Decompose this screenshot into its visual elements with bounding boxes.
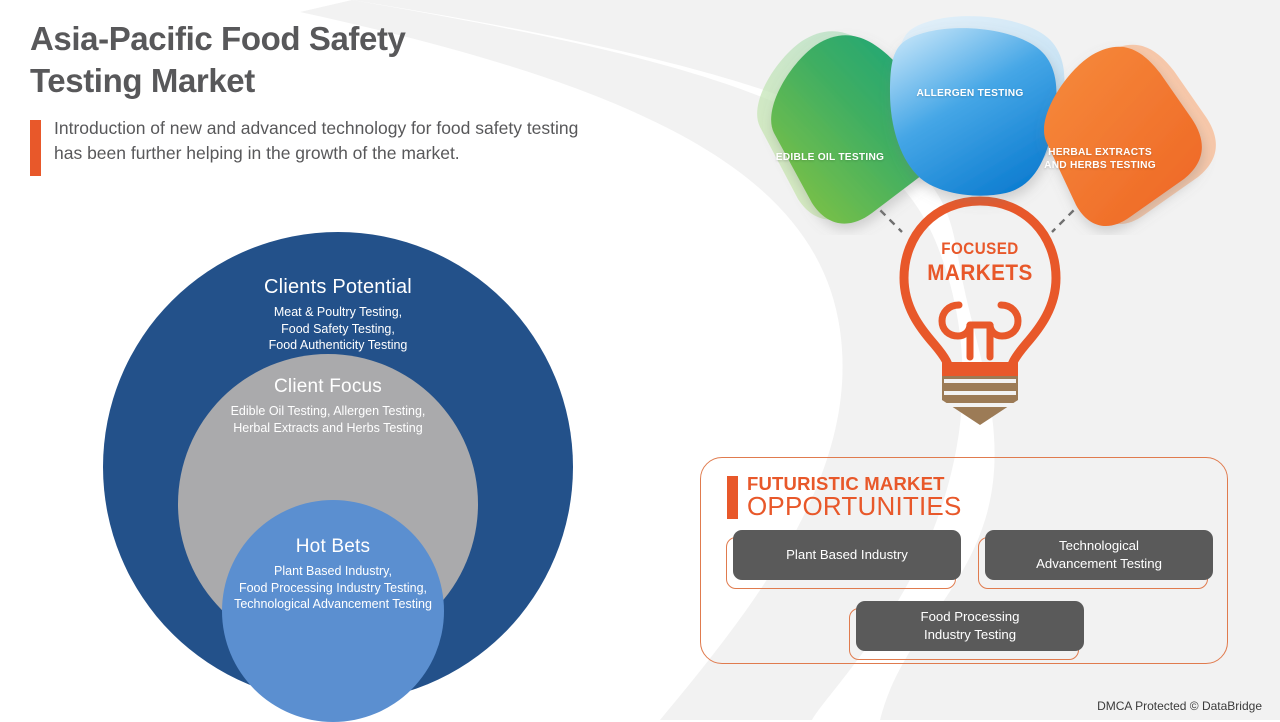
circle-heading: Clients Potential [264,276,412,299]
concentric-circles-diagram: Clients Potential Meat & Poultry Testing… [100,228,580,708]
opportunities-title-line2: OPPORTUNITIES [747,493,962,520]
circle-hot-bets[interactable]: Hot Bets Plant Based Industry, Food Proc… [222,500,444,722]
blob-shapes [730,5,1230,235]
bulb-text-line1: FOCUSED [888,241,1072,258]
circle-items: Plant Based Industry, Food Processing In… [234,563,432,613]
blob-label-edible-oil: EDIBLE OIL TESTING [750,151,910,164]
card-technological-advancement-testing[interactable]: Technological Advancement Testing [985,530,1213,580]
circle-items: Meat & Poultry Testing, Food Safety Test… [269,304,408,354]
bulb-text: FOCUSED MARKETS [880,241,1080,284]
card-label: Plant Based Industry [786,546,908,564]
page-title-line1: Asia-Pacific Food Safety [30,20,406,57]
accent-bar [30,120,41,176]
card-label: Technological Advancement Testing [1036,537,1162,572]
page-title: Asia-Pacific Food Safety Testing Market [30,18,590,102]
infographic-canvas: Asia-Pacific Food Safety Testing Market … [0,0,1280,720]
page-subtitle: Introduction of new and advanced technol… [54,116,590,176]
bulb-text-line2: MARKETS [888,262,1072,285]
subtitle-block: Introduction of new and advanced technol… [30,116,590,176]
accent-bar [727,476,738,519]
card-plant-based-industry[interactable]: Plant Based Industry [733,530,961,580]
opportunities-heading: FUTURISTIC MARKET OPPORTUNITIES [727,474,1227,520]
header-block: Asia-Pacific Food Safety Testing Market … [30,18,590,176]
page-title-line2: Testing Market [30,62,255,99]
card-food-processing-industry-testing[interactable]: Food Processing Industry Testing [856,601,1084,651]
circle-heading: Hot Bets [296,536,370,558]
blob-label-allergen: ALLERGEN TESTING [890,87,1050,100]
market-blobs-group: EDIBLE OIL TESTING ALLERGEN TESTING HERB… [730,5,1230,235]
blob-label-herbal: HERBAL EXTRACTS AND HERBS TESTING [1020,146,1180,172]
circle-items: Edible Oil Testing, Allergen Testing, He… [231,403,426,436]
circle-heading: Client Focus [274,376,382,398]
footer-copyright: DMCA Protected © DataBridge [1097,699,1262,713]
card-label: Food Processing Industry Testing [921,608,1020,643]
futuristic-market-opportunities-panel: FUTURISTIC MARKET OPPORTUNITIES Plant Ba… [700,457,1228,664]
